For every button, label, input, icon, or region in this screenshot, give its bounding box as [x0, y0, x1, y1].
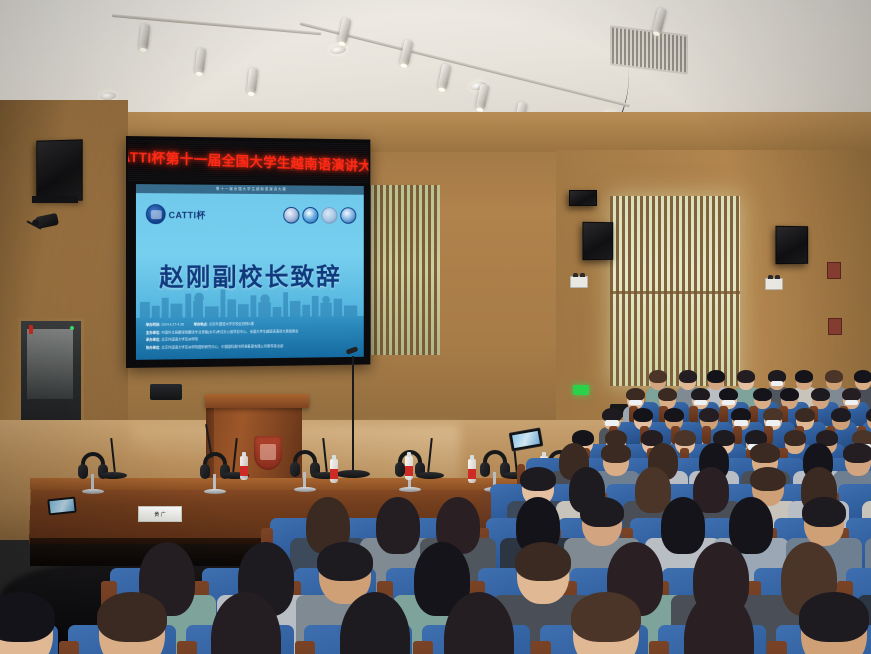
table-microphone-base	[416, 472, 444, 479]
audience-person-hair	[633, 408, 653, 422]
wall-speaker-left	[36, 139, 82, 200]
audience-person-hair	[520, 467, 556, 491]
auditorium-photo: CATTI杯第十一届全国大学生越南语演讲大赛 第十一届全国大学生越南语演讲大赛 …	[0, 0, 871, 654]
face-mask	[629, 400, 642, 405]
door-indicator-red	[29, 325, 33, 334]
footer-label: 主办单位:	[146, 330, 161, 334]
headphone-earcup-left	[78, 464, 88, 479]
emblem-4-icon	[340, 207, 356, 224]
audience-person-hair	[750, 443, 780, 463]
audience-person-hair	[780, 388, 799, 401]
floor-microphone-stand	[352, 356, 354, 474]
speaker-mount-bracket	[32, 196, 78, 203]
footer-row: 协办单位: 北京外国语大学亚洲学院国别研究中心、中国国际图书贸易集团有限公司教育…	[146, 342, 356, 352]
audience-person-hair	[699, 408, 719, 422]
audience-person-hair	[679, 370, 697, 383]
audience-person-hair	[802, 497, 846, 527]
stage-chair	[150, 384, 182, 400]
headphone-stand-base	[294, 487, 316, 492]
audience-person-hair	[737, 370, 755, 383]
smartphone-recording-2[interactable]	[47, 497, 77, 516]
footer-value: 北京外国语大学亚洲学院国别研究中心、中国国际图书贸易集团有限公司教育事业部	[161, 344, 283, 349]
audience-person-hair	[707, 370, 725, 383]
face-mask	[734, 420, 748, 426]
face-mask	[694, 400, 707, 405]
footer-value: 北京外国语大学东校区西院A楼	[209, 322, 254, 326]
audience-person-hair	[843, 443, 871, 463]
face-mask	[605, 420, 619, 426]
headphone-earcup-left	[290, 462, 300, 477]
phone-screen	[49, 499, 74, 513]
led-banner-text: CATTI杯第十一届全国大学生越南语演讲大赛	[128, 146, 368, 176]
footer-value: 北京外国语大学亚洲学院	[161, 337, 198, 341]
headphone-earcup-left	[395, 462, 405, 477]
audience-person-hair	[795, 408, 815, 422]
audience-person-hair	[799, 592, 869, 642]
university-shield-emblem	[254, 436, 282, 470]
projection-screen: CATTI杯第十一届全国大学生越南语演讲大赛 第十一届全国大学生越南语演讲大赛 …	[126, 136, 370, 368]
catti-logo-text: CATTI杯	[169, 208, 206, 221]
floor-microphone-base	[336, 470, 370, 478]
headphone-stand-post	[91, 474, 94, 490]
judge-nameplate: 黄 广	[138, 506, 182, 522]
slide-header-strip: 第十一届全国大学生越南语演讲大赛	[136, 184, 364, 195]
water-bottle	[330, 459, 338, 483]
audience-person-hair	[580, 497, 624, 527]
seat-armrest	[689, 406, 698, 424]
audience-person-hair	[729, 497, 773, 554]
catti-emblem-icon	[146, 204, 166, 224]
emblem-2-icon	[302, 207, 318, 224]
water-bottle	[240, 456, 248, 480]
audience-person-hair	[376, 497, 420, 554]
footer-value: 2024.4.27-4.28	[161, 322, 183, 326]
footer-label: 举办地点:	[194, 322, 208, 326]
seat-armrest	[59, 641, 79, 654]
wall-speaker-right-2	[775, 226, 808, 264]
audience-person-hair	[795, 370, 813, 383]
emergency-light-right	[765, 278, 783, 290]
slide-footer-details: 举办时间: 2024.4.27-4.28 举办地点: 北京外国语大学东校区西院A…	[136, 316, 364, 360]
footer-value: 中国外文局翻译院翻译专业资格(水平)考试办公室项目中心、全国大学生越南语演讲大赛…	[161, 329, 298, 334]
audience-person-hair	[571, 592, 641, 642]
headphone-stand-base	[204, 489, 226, 494]
face-mask	[766, 420, 780, 426]
podium-top-surface	[205, 394, 309, 408]
headphone-stand-base	[82, 489, 104, 494]
seat-armrest	[767, 641, 787, 654]
city-skyline-graphic	[136, 283, 364, 318]
presentation-slide: 第十一届全国大学生越南语演讲大赛 CATTI杯 赵刚副校长致辞	[136, 184, 364, 360]
seat-armrest	[177, 641, 197, 654]
audience-person-hair	[674, 430, 696, 446]
headphone-earcup-left	[480, 462, 490, 477]
audience-person-hair	[753, 388, 772, 401]
audience-person-hair	[97, 592, 167, 642]
audience-person-hair	[649, 370, 667, 383]
door-indicator-green	[70, 326, 74, 330]
audience-person-hair	[811, 388, 830, 401]
seat-armrest	[702, 426, 711, 445]
headphone-earcup-left	[200, 464, 210, 479]
audience-person-hair	[664, 408, 684, 422]
seat-armrest	[413, 641, 433, 654]
seat-armrest	[719, 406, 728, 424]
fire-extinguisher-box-lower	[828, 318, 842, 335]
table-microphone-base	[99, 472, 127, 479]
footer-label: 举办时间:	[146, 323, 161, 327]
seat-armrest	[295, 641, 315, 654]
headphone-stand-base	[399, 487, 421, 492]
audience-person-hair	[601, 443, 631, 463]
emblem-3-icon	[321, 207, 337, 224]
catti-logo: CATTI杯	[146, 204, 206, 224]
backlit-slat-window-right	[610, 196, 740, 386]
audience-person-hair	[658, 388, 677, 401]
footer-label: 协办单位:	[146, 345, 161, 349]
audience-person-hair	[515, 542, 571, 581]
emergency-light-left	[570, 276, 588, 288]
face-mask	[771, 381, 783, 386]
audience-person-hair	[825, 370, 843, 383]
wall-speaker-right-1	[582, 222, 613, 260]
water-bottle	[405, 456, 413, 480]
audience-person-hair	[750, 467, 786, 491]
audience-person-hair	[854, 370, 871, 383]
headphone-stand-post	[303, 472, 306, 488]
audience-person-hair	[661, 497, 705, 554]
emblem-1-icon	[283, 207, 299, 224]
face-mask	[845, 400, 858, 405]
partner-emblems	[283, 207, 356, 224]
seat-armrest	[531, 641, 551, 654]
footer-label: 承办单位:	[146, 338, 161, 342]
audience-person-hair	[784, 430, 806, 446]
fire-extinguisher-box-upper	[827, 262, 841, 279]
audience-person-hair	[317, 542, 373, 581]
backlit-slat-window-center	[362, 185, 440, 355]
headphone-stand-post	[213, 474, 216, 490]
face-mask	[722, 400, 735, 405]
phone-screen	[512, 431, 540, 448]
audience-person-hair	[831, 408, 851, 422]
exit-sign	[573, 385, 589, 395]
door-window-panel	[27, 329, 73, 399]
wall-speaker-upper-right	[569, 190, 597, 206]
led-banner: CATTI杯第十一届全国大学生越南语演讲大赛	[128, 139, 368, 183]
water-bottle	[468, 459, 476, 483]
seat-armrest	[649, 641, 669, 654]
